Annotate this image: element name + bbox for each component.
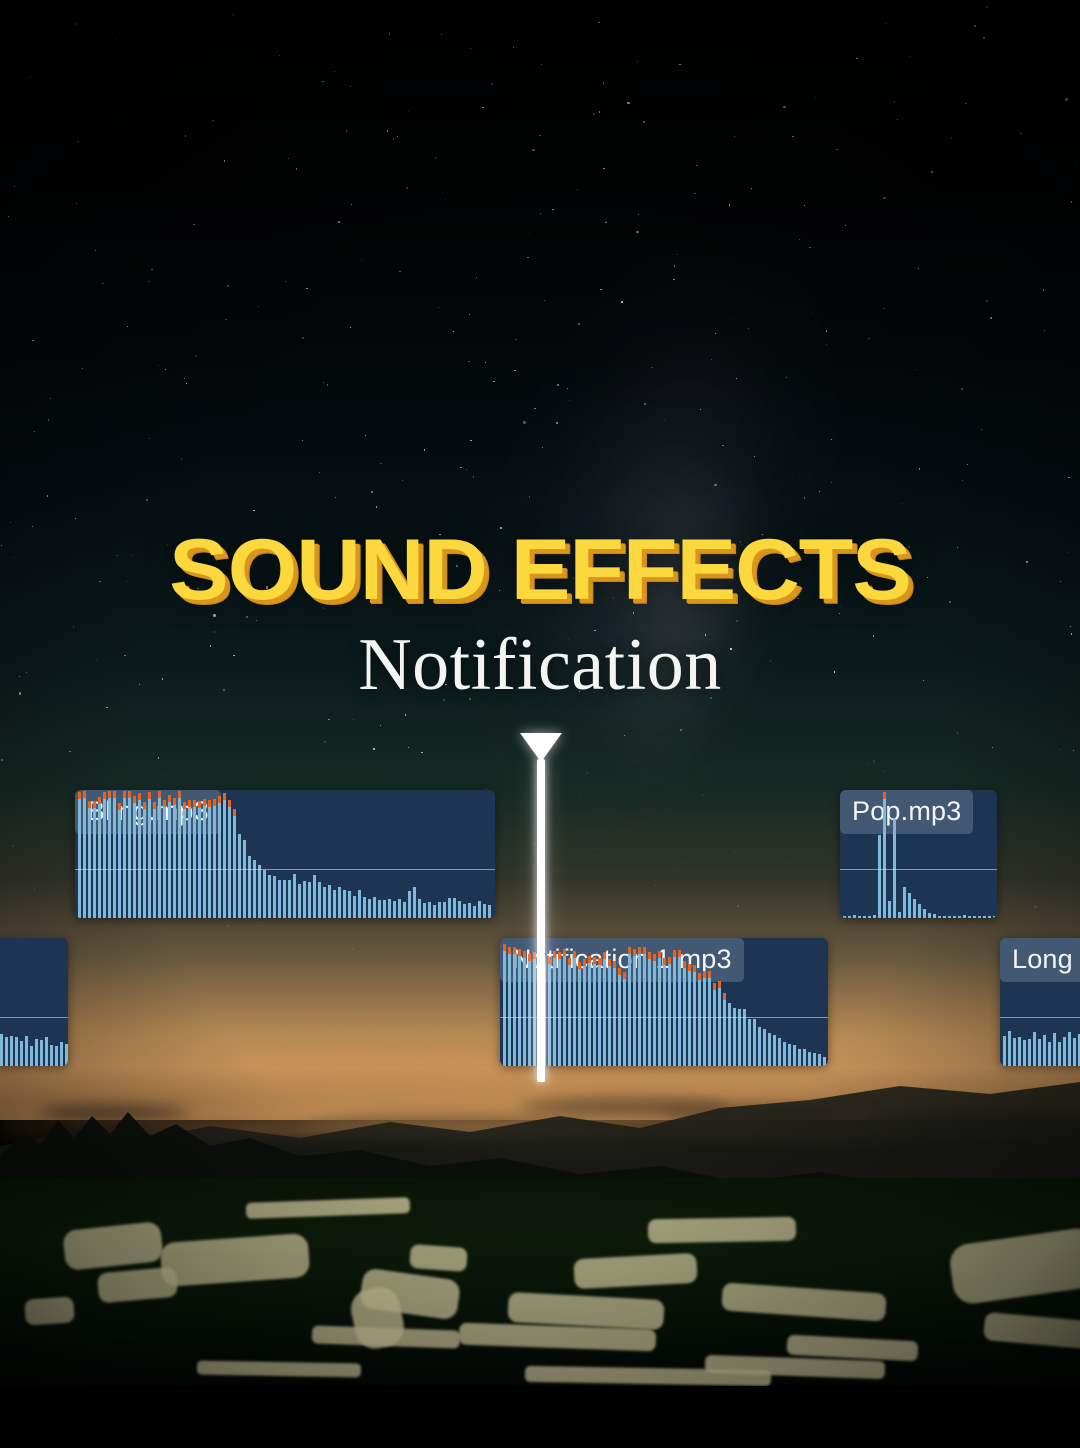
audio-clip[interactable]: [0, 938, 68, 1066]
waveform: [75, 790, 495, 918]
audio-clip[interactable]: Pop.mp3: [840, 790, 997, 918]
waveform-center-line: [1000, 1017, 1080, 1018]
waveform: [840, 790, 997, 918]
video-frame: SOUND EFFECTS Notification Bling.mp3Pop.…: [0, 0, 1080, 1448]
waveform: [1000, 938, 1080, 1066]
waveform-center-line: [840, 869, 997, 870]
waveform: [500, 938, 828, 1066]
waveform-center-line: [500, 1017, 828, 1018]
audio-timeline[interactable]: Bling.mp3Pop.mp3Notification 1.mp3Long: [0, 0, 1080, 1448]
waveform-center-line: [75, 869, 495, 870]
waveform-center-line: [0, 1017, 68, 1018]
waveform: [0, 938, 68, 1066]
audio-clip[interactable]: Bling.mp3: [75, 790, 495, 918]
audio-clip[interactable]: Long: [1000, 938, 1080, 1066]
audio-clip[interactable]: Notification 1.mp3: [500, 938, 828, 1066]
